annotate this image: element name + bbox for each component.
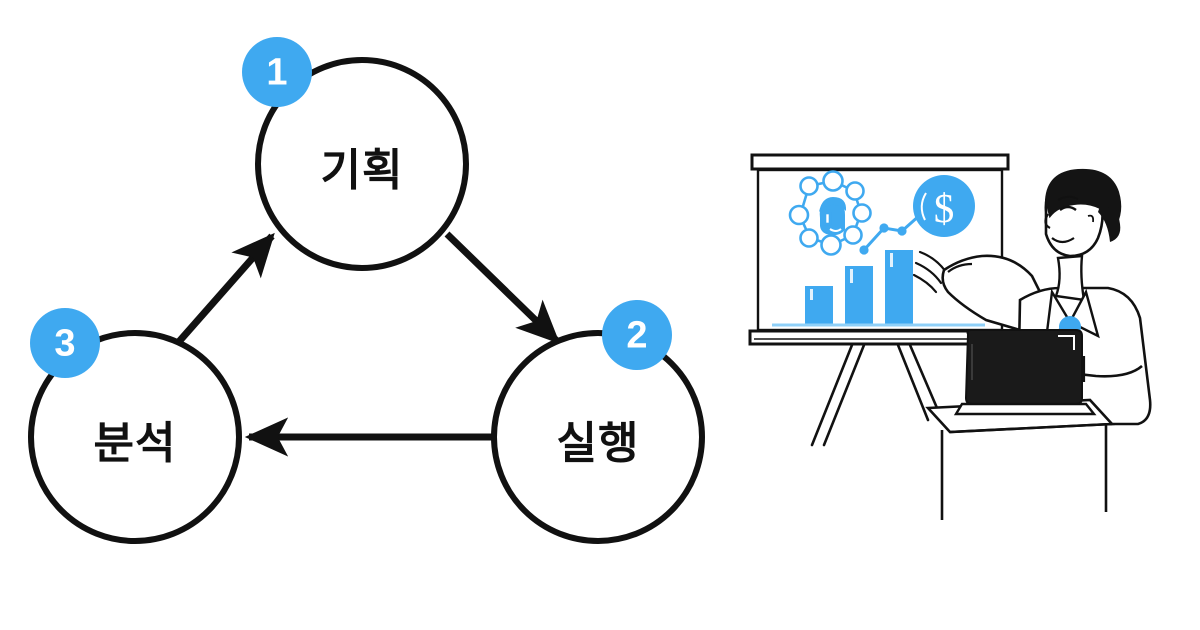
bar-3 [885,250,913,324]
desk [928,400,1112,520]
illustration-canvas: 기획 실행 분석 1 2 3 [0,0,1200,630]
dollar-coin-symbol: $ [934,185,955,231]
laptop-base [956,404,1094,414]
dollar-coin-icon: $ [913,175,975,237]
presentation-board [750,155,1008,344]
network-person-icon [790,172,871,255]
neck [1056,256,1084,300]
laptop-screen [966,330,1082,404]
board-top-bar [752,155,1008,169]
network-icon-face [819,197,846,235]
bar-1 [805,286,833,324]
laptop [956,330,1094,414]
board-tripod-legs [812,345,940,445]
bar-2 [845,266,873,324]
businessman-presentation-illustration: $ [0,0,1200,630]
